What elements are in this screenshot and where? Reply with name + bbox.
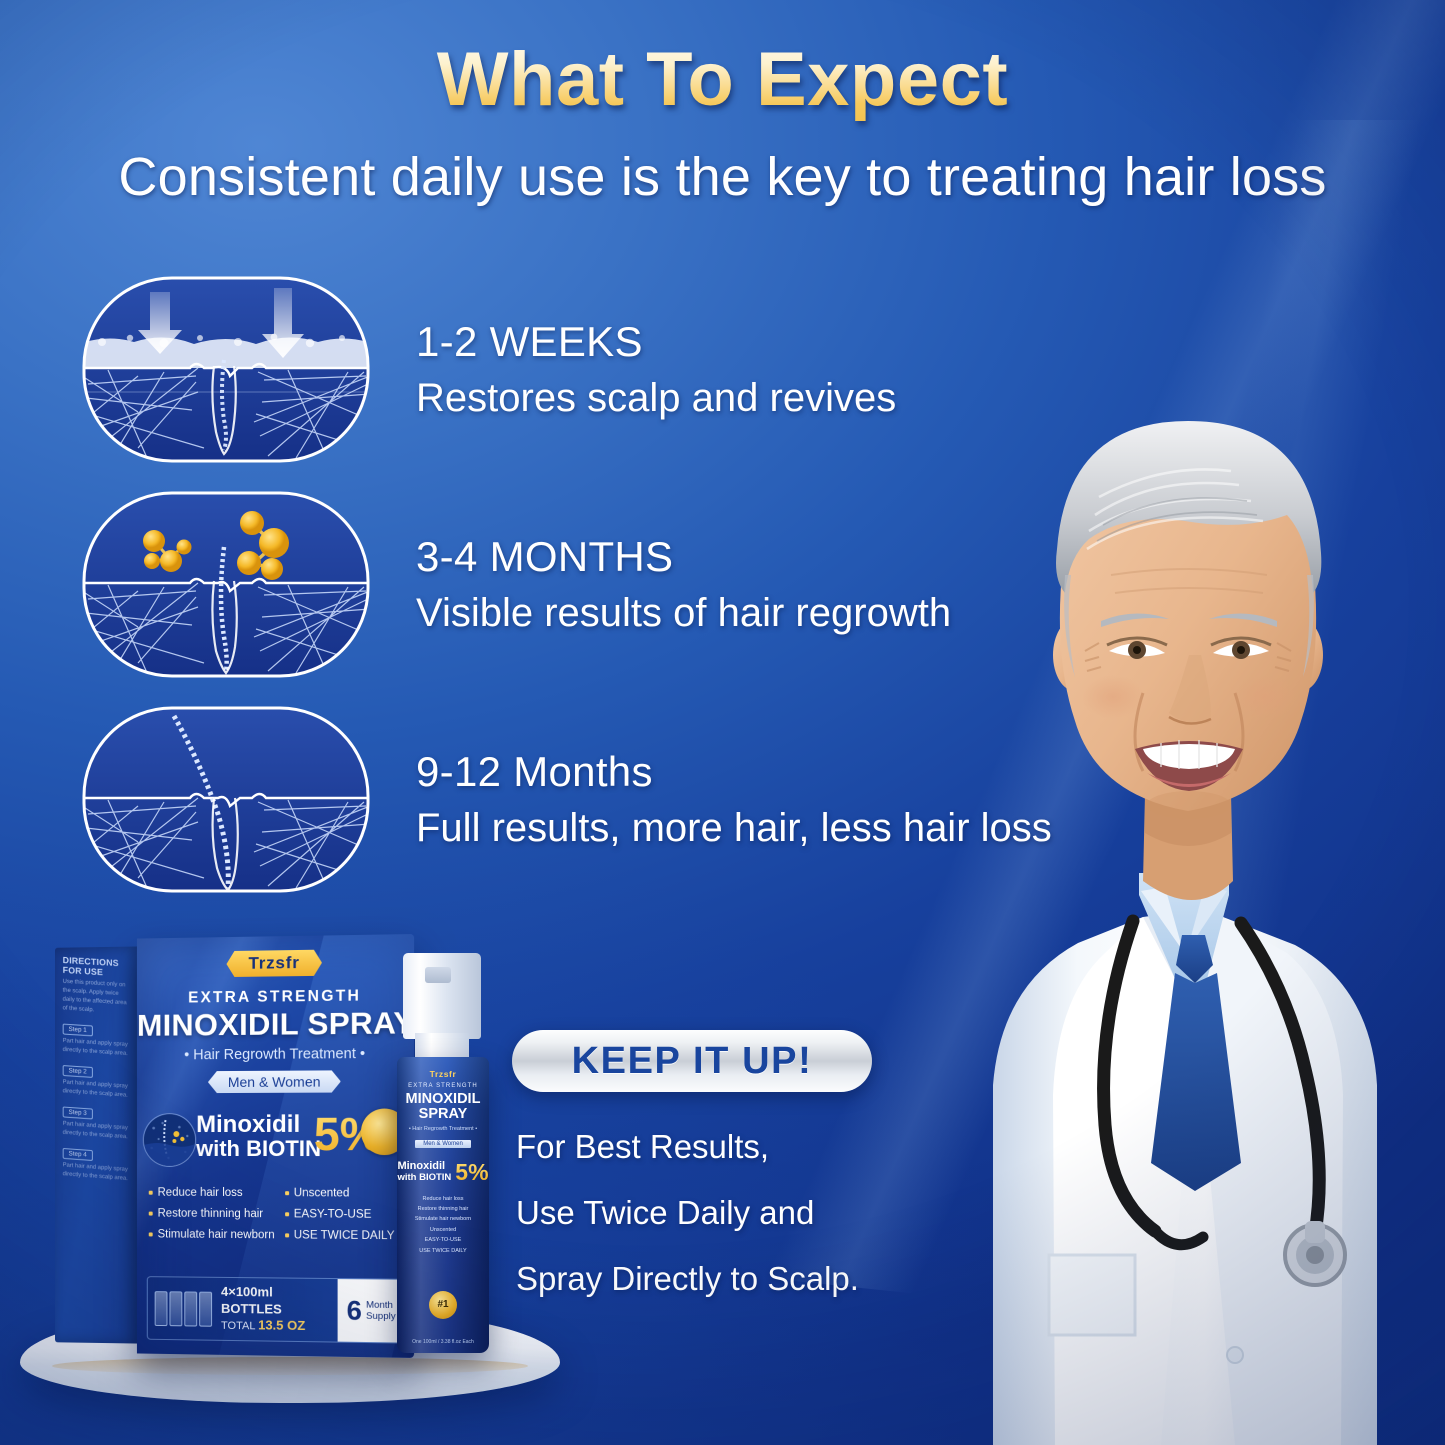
benefit-item: USE TWICE DAILY	[285, 1229, 406, 1242]
directions-blurb: Use this product only on the scalp. Appl…	[63, 978, 131, 1018]
supply-label: Month Supply	[366, 1299, 396, 1322]
vial-icon	[169, 1291, 182, 1326]
step-text: Part hair and apply spray directly to th…	[63, 1161, 131, 1184]
bullet-dot-icon	[149, 1212, 153, 1216]
spray-bottle: Trzsfr EXTRA STRENGTH MINOXIDIL SPRAY • …	[395, 953, 491, 1353]
directions-title: DIRECTIONS FOR USE	[63, 955, 131, 979]
benefit-item: Reduce hair loss	[149, 1187, 275, 1199]
benefits-lists: Reduce hair loss Restore thinning hair S…	[149, 1187, 406, 1252]
keep-it-up-banner: KEEP IT UP!	[512, 1030, 872, 1092]
step-chip: Step 1	[63, 1024, 93, 1037]
bottle-benefit-item: Restore thinning hair	[397, 1204, 489, 1214]
benefit-text: Stimulate hair newborn	[158, 1229, 275, 1242]
benefit-text: USE TWICE DAILY	[294, 1229, 395, 1242]
step-text: Part hair and apply spray directly to th…	[63, 1037, 131, 1059]
bottle-product-name: MINOXIDIL SPRAY	[397, 1092, 489, 1122]
bullet-dot-icon	[285, 1233, 289, 1237]
step-text: Part hair and apply spray directly to th…	[63, 1078, 131, 1100]
scalp-molecules-icon	[78, 487, 374, 682]
vial-icon	[199, 1291, 212, 1326]
doctor-photo	[843, 325, 1445, 1445]
step-text: Part hair and apply spray directly to th…	[63, 1120, 131, 1143]
product-box: DIRECTIONS FOR USE Use this product only…	[55, 934, 414, 1360]
bottle-benefit-item: Stimulate hair newborn	[397, 1214, 489, 1224]
box-front-panel: Trzsfr EXTRA STRENGTH MINOXIDIL SPRAY • …	[137, 934, 414, 1358]
bottle-active-text: Minoxidil with BIOTIN	[397, 1161, 451, 1183]
timeline-text: 1-2 WEEKS Restores scalp and revives	[416, 318, 896, 420]
page-subtitle: Consistent daily use is the key to treat…	[0, 146, 1445, 208]
supply-line-2: Supply	[366, 1311, 396, 1323]
bottle-percent: 5%	[455, 1159, 488, 1186]
benefit-item: EASY-TO-USE	[285, 1208, 406, 1221]
total-value: 13.5 OZ	[258, 1317, 305, 1333]
vial-icon	[184, 1291, 197, 1326]
supply-number: 6	[347, 1297, 362, 1324]
total-label: TOTAL	[221, 1320, 255, 1332]
treatment-label: • Hair Regrowth Treatment •	[137, 1046, 414, 1064]
quantity-bar: 4×100ml BOTTLES TOTAL 13.5 OZ 6 Month Su…	[147, 1276, 406, 1343]
bottle-active-line-2: with BIOTIN	[397, 1173, 451, 1183]
bottle-cap	[403, 953, 481, 1039]
vial-icons	[155, 1291, 212, 1327]
bottle-extra-strength: EXTRA STRENGTH	[397, 1083, 489, 1089]
scalp-absorption-icon	[78, 272, 374, 467]
total-line: TOTAL 13.5 OZ	[221, 1317, 337, 1335]
bottle-audience: Men & Women	[415, 1140, 471, 1148]
bottle-benefit-item: Unscented	[397, 1225, 489, 1235]
bottle-body: Trzsfr EXTRA STRENGTH MINOXIDIL SPRAY • …	[397, 1057, 489, 1353]
bottle-brand: Trzsfr	[397, 1069, 489, 1079]
bottle-benefit-item: EASY-TO-USE	[397, 1235, 489, 1245]
benefit-text: Restore thinning hair	[158, 1208, 264, 1221]
volume-label: 4×100ml BOTTLES	[221, 1284, 337, 1318]
benefit-item: Stimulate hair newborn	[149, 1228, 275, 1241]
supply-line-1: Month	[366, 1299, 396, 1311]
bottle-benefit-item: Reduce hair loss	[397, 1194, 489, 1204]
benefits-left: Reduce hair loss Restore thinning hair S…	[149, 1187, 275, 1251]
bottle-active-block: Minoxidil with BIOTIN 5%	[397, 1159, 489, 1186]
benefit-text: Reduce hair loss	[158, 1187, 243, 1199]
rank-badge-icon: #1	[429, 1291, 457, 1319]
step-chip: Step 4	[63, 1148, 93, 1161]
bottle-treatment: • Hair Regrowth Treatment •	[397, 1126, 489, 1132]
bottle-benefit-item: USE TWICE DAILY	[397, 1246, 489, 1256]
audience-label: Men & Women	[208, 1070, 341, 1093]
step-chip: Step 3	[63, 1106, 93, 1119]
timeline-heading: 1-2 WEEKS	[416, 318, 896, 366]
brand-badge: Trzsfr	[226, 950, 321, 977]
benefit-text: Unscented	[294, 1187, 350, 1199]
scalp-full-hair-icon	[78, 702, 374, 897]
benefit-text: EASY-TO-USE	[294, 1208, 372, 1220]
bullet-dot-icon	[285, 1212, 289, 1216]
bullet-dot-icon	[149, 1232, 153, 1236]
vial-icon	[155, 1291, 168, 1326]
bullet-dot-icon	[285, 1191, 289, 1195]
keep-it-up-label: KEEP IT UP!	[572, 1040, 813, 1083]
box-side-panel: DIRECTIONS FOR USE Use this product only…	[55, 946, 139, 1343]
benefit-item: Unscented	[285, 1187, 406, 1200]
volume-block: 4×100ml BOTTLES TOTAL 13.5 OZ	[221, 1284, 337, 1335]
step-chip: Step 2	[63, 1065, 93, 1078]
product-infographic: What To Expect Consistent daily use is t…	[0, 0, 1445, 1445]
page-title: What To Expect	[0, 36, 1445, 123]
bottle-footer: One 100ml / 3.38 fl.oz Each	[397, 1339, 489, 1345]
timeline-detail: Restores scalp and revives	[416, 375, 896, 421]
benefits-right: Unscented EASY-TO-USE USE TWICE DAILY	[285, 1187, 406, 1251]
product-name: MINOXIDIL SPRAY	[137, 1005, 414, 1044]
bullet-dot-icon	[149, 1191, 153, 1195]
scalp-inset-icon	[143, 1113, 196, 1167]
benefit-item: Restore thinning hair	[149, 1208, 275, 1221]
bottle-benefits: Reduce hair loss Restore thinning hair S…	[397, 1194, 489, 1257]
